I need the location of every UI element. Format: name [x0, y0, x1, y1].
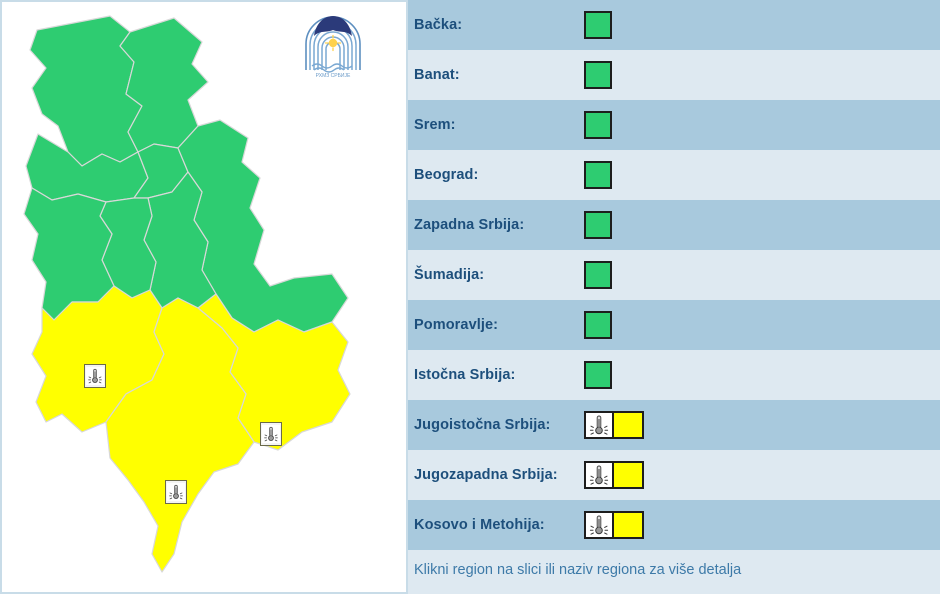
low-temperature-thermometer-icon [586, 463, 614, 487]
legend-row-backa[interactable]: Bačka: [408, 0, 940, 50]
serbia-regions-map[interactable] [2, 2, 406, 592]
status-swatch-green [584, 261, 612, 289]
status-swatch-green [584, 311, 612, 339]
region-name-zapadna-srbija[interactable]: Zapadna Srbija: [408, 217, 580, 233]
low-temperature-thermometer-icon [86, 366, 104, 386]
serbia-map-panel[interactable]: РХМЗ СРБИЈЕ [0, 0, 408, 594]
region-legend-list: Bačka: Banat: Srem: Beograd: [408, 0, 940, 594]
low-temperature-thermometer-icon [167, 482, 185, 502]
region-status-beograd [580, 161, 660, 189]
legend-row-jugoistocna-srbija[interactable]: Jugoistočna Srbija: [408, 400, 940, 450]
region-name-istocna-srbija[interactable]: Istočna Srbija: [408, 367, 580, 383]
region-status-jugozapadna-srbija [580, 461, 660, 489]
region-status-jugoistocna-srbija [580, 411, 660, 439]
warning-badge-yellow [584, 511, 644, 539]
region-status-srem [580, 111, 660, 139]
low-temperature-thermometer-icon [586, 513, 614, 537]
status-swatch-green [584, 361, 612, 389]
region-status-zapadna-srbija [580, 211, 660, 239]
legend-row-istocna-srbija[interactable]: Istočna Srbija: [408, 350, 940, 400]
region-status-kosovo-i-metohija [580, 511, 660, 539]
low-temperature-thermometer-icon [586, 413, 614, 437]
low-temperature-thermometer-icon [262, 424, 280, 444]
region-status-backa [580, 11, 660, 39]
region-name-pomoravlje[interactable]: Pomoravlje: [408, 317, 580, 333]
legend-row-banat[interactable]: Banat: [408, 50, 940, 100]
legend-row-jugozapadna-srbija[interactable]: Jugozapadna Srbija: [408, 450, 940, 500]
region-name-beograd[interactable]: Beograd: [408, 167, 580, 183]
region-status-banat [580, 61, 660, 89]
status-swatch-green [584, 111, 612, 139]
status-swatch-green [584, 61, 612, 89]
region-name-banat[interactable]: Banat: [408, 67, 580, 83]
warning-badge-yellow [584, 461, 644, 489]
meteoalarm-widget: РХМЗ СРБИЈЕ Bačka: Banat: Srem: [0, 0, 940, 594]
map-marker-jugoistocna-srbija[interactable] [260, 422, 282, 446]
rhmz-srbije-logo: РХМЗ СРБИЈЕ [302, 10, 364, 78]
legend-row-beograd[interactable]: Beograd: [408, 150, 940, 200]
region-name-sumadija[interactable]: Šumadija: [408, 267, 580, 283]
warning-badge-yellow [584, 411, 644, 439]
region-status-sumadija [580, 261, 660, 289]
region-name-backa[interactable]: Bačka: [408, 17, 580, 33]
status-swatch-green [584, 11, 612, 39]
legend-footer: Klikni region na slici ili naziv regiona… [408, 550, 940, 594]
region-status-pomoravlje [580, 311, 660, 339]
status-swatch-yellow [614, 413, 642, 437]
map-marker-jugozapadna-srbija[interactable] [84, 364, 106, 388]
region-status-istocna-srbija [580, 361, 660, 389]
legend-row-zapadna-srbija[interactable]: Zapadna Srbija: [408, 200, 940, 250]
status-swatch-yellow [614, 463, 642, 487]
region-name-kosovo-i-metohija[interactable]: Kosovo i Metohija: [408, 517, 580, 533]
legend-row-kosovo-i-metohija[interactable]: Kosovo i Metohija: [408, 500, 940, 550]
logo-caption: РХМЗ СРБИЈЕ [316, 73, 351, 78]
legend-footer-note: Klikni region na slici ili naziv regiona… [414, 562, 741, 578]
legend-row-srem[interactable]: Srem: [408, 100, 940, 150]
rhmz-logo-graphic: РХМЗ СРБИЈЕ [302, 10, 364, 78]
region-name-jugoistocna-srbija[interactable]: Jugoistočna Srbija: [408, 417, 580, 433]
legend-row-sumadija[interactable]: Šumadija: [408, 250, 940, 300]
map-marker-kosovo-i-metohija[interactable] [165, 480, 187, 504]
status-swatch-yellow [614, 513, 642, 537]
region-name-srem[interactable]: Srem: [408, 117, 580, 133]
status-swatch-green [584, 161, 612, 189]
region-name-jugozapadna-srbija[interactable]: Jugozapadna Srbija: [408, 467, 580, 483]
status-swatch-green [584, 211, 612, 239]
legend-row-pomoravlje[interactable]: Pomoravlje: [408, 300, 940, 350]
